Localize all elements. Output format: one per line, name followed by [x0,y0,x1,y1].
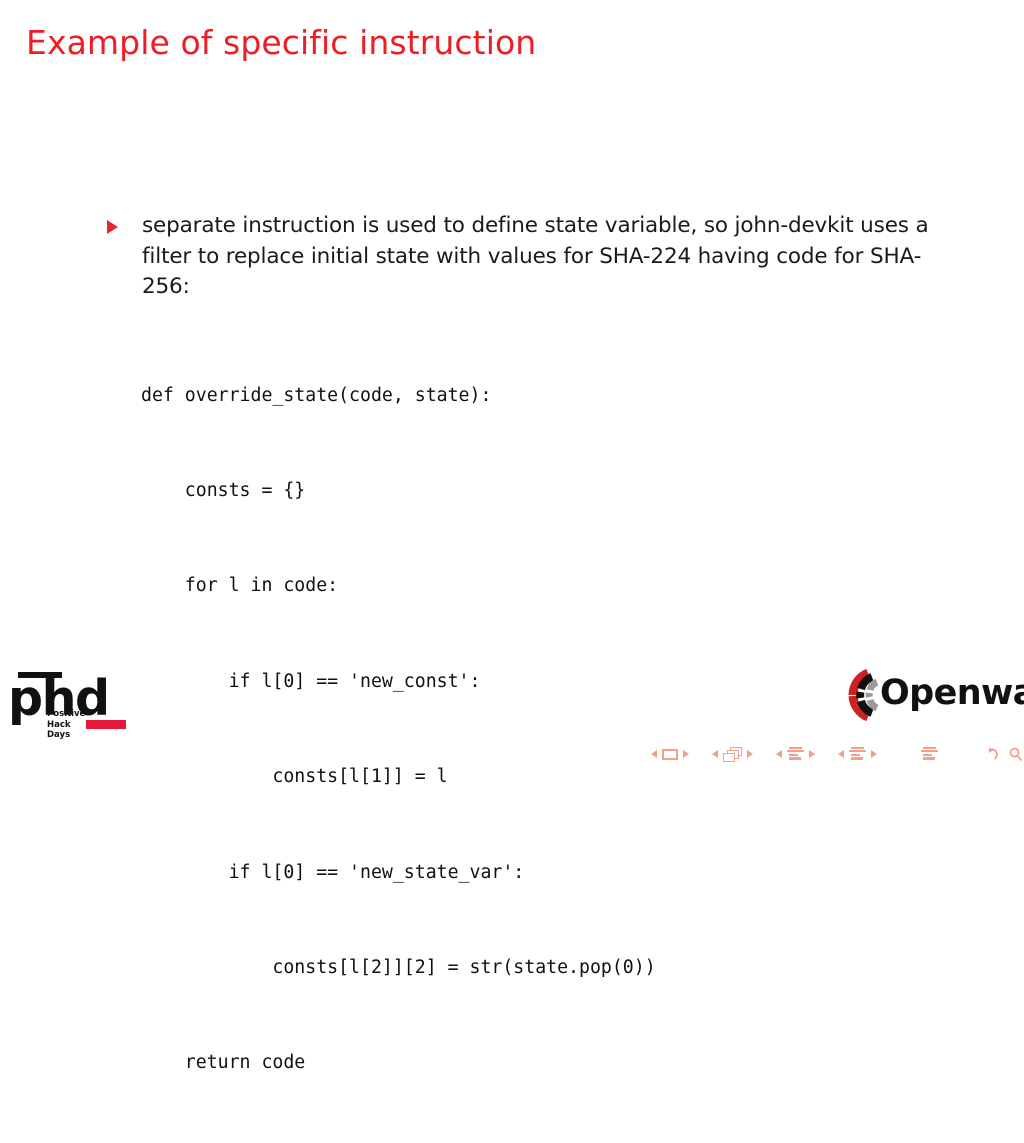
code-line: for l in code: [141,570,656,602]
triangle-right-icon [107,220,118,234]
presentation-slide: Example of specific instruction separate… [0,0,1024,769]
frame-icon[interactable] [662,749,678,760]
code-line: consts[l[1]] = l [141,761,656,793]
next-frame-icon[interactable] [747,750,753,758]
page-title: Example of specific instruction [26,22,536,64]
nav-group-slide[interactable] [646,749,694,760]
slide-body: separate instruction is used to define s… [104,211,954,303]
nav-group-frame[interactable] [707,747,758,762]
bullet-item: separate instruction is used to define s… [104,211,954,303]
undo-arrow-icon[interactable] [982,747,998,762]
phd-accent-bar-icon [86,720,126,729]
code-line: return code [141,1047,656,1079]
phd-tagline: Positive Hack Days [47,709,85,741]
prev-frame-icon[interactable] [712,750,718,758]
code-line: consts[l[2]][2] = str(state.pop(0)) [141,952,656,984]
beamer-navigation-bar[interactable] [646,744,1024,764]
openwall-wordmark: Openwall [880,671,1024,715]
phd-tagline-line: Hack [47,720,85,731]
phd-tagline-line: Positive [47,709,85,720]
phd-logo: phd Positive Hack Days [8,672,128,738]
nav-group-presentation[interactable] [921,747,938,762]
code-line: def override_state(code, state): [141,380,656,412]
phd-tagline-line: Days [47,730,85,741]
nav-group-subsection[interactable] [771,747,820,762]
code-block: def override_state(code, state): consts … [141,316,656,1143]
presentation-lines-icon[interactable] [921,747,938,762]
subsection-lines-icon[interactable] [787,747,804,762]
next-subsection-icon[interactable] [809,750,815,758]
openwall-logo: Openwall [848,666,1020,724]
nav-group-section[interactable] [833,747,882,762]
prev-section-icon[interactable] [838,750,844,758]
next-section-icon[interactable] [871,750,877,758]
next-slide-icon[interactable] [683,750,689,758]
stacked-frames-icon[interactable] [723,747,742,762]
prev-slide-icon[interactable] [651,750,657,758]
bullet-item-text: separate instruction is used to define s… [142,211,942,303]
section-lines-icon[interactable] [849,747,866,762]
prev-subsection-icon[interactable] [776,750,782,758]
code-line: if l[0] == 'new_state_var': [141,857,656,889]
nav-group-history[interactable] [977,747,1024,762]
magnifier-icon[interactable] [1008,747,1023,762]
code-line: consts = {} [141,475,656,507]
code-line: if l[0] == 'new_const': [141,666,656,698]
